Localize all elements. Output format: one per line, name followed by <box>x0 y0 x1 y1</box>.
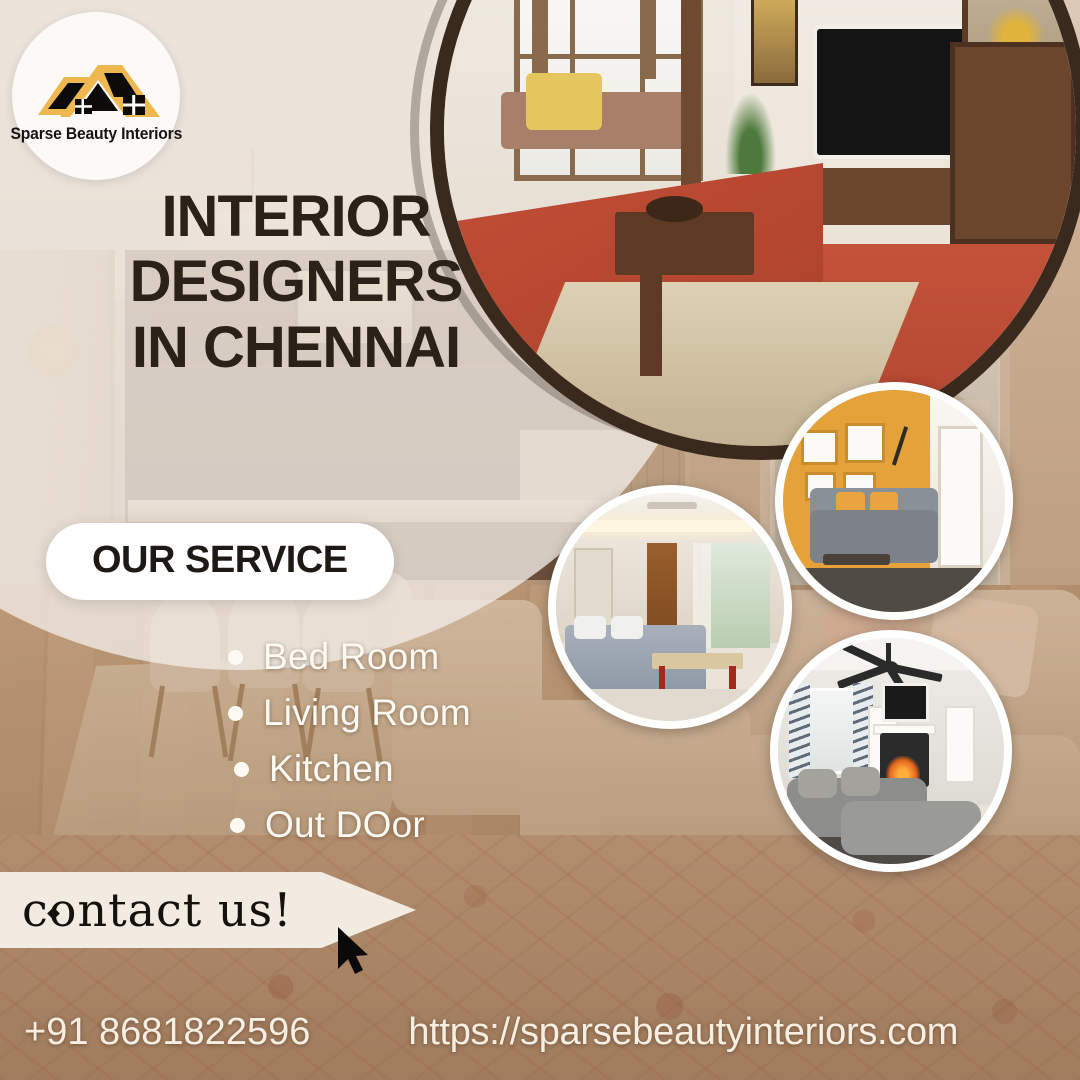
service-label: Bed Room <box>263 636 439 678</box>
headline-line-2: DESIGNERS <box>110 251 482 312</box>
m3-fire-flame <box>886 756 920 781</box>
brand-logo[interactable]: Sparse Beauty Interiors <box>12 12 180 180</box>
mini-image-grey-living-room <box>770 630 1012 872</box>
our-service-badge: OUR SERVICE <box>46 523 394 600</box>
list-item[interactable]: Kitchen <box>234 748 558 790</box>
phone-number[interactable]: +91 8681822596 <box>24 1011 310 1054</box>
m3-fan-rod <box>886 643 891 663</box>
m2-floor <box>556 689 784 721</box>
brand-name: Sparse Beauty Interiors <box>10 125 182 144</box>
website-url[interactable]: https://sparsebeautyinteriors.com <box>408 1011 958 1054</box>
list-item[interactable]: Bed Room <box>228 636 558 678</box>
mouse-pointer-icon <box>336 926 370 976</box>
list-item[interactable]: Out DOor <box>230 804 558 846</box>
contact-us-label: contact us! <box>22 883 293 937</box>
poster-canvas: Sparse Beauty Interiors INTERIOR DESIGNE… <box>0 0 1080 1080</box>
service-label: Kitchen <box>269 748 394 790</box>
list-item[interactable]: Living Room <box>228 692 558 734</box>
m3-cushion <box>798 769 836 798</box>
hero-yellow-pillow <box>526 73 602 130</box>
mini-image-orange-living-room <box>775 382 1013 620</box>
hero-wall-art <box>751 0 798 86</box>
hero-swing-rope <box>532 0 548 79</box>
m1-picture-frame <box>801 430 839 466</box>
m3-fan-hub <box>880 661 898 672</box>
service-label: Out DOor <box>265 804 425 846</box>
m3-curtain <box>789 683 809 778</box>
hero-plant <box>725 92 776 174</box>
hero-swing-rope <box>640 0 656 79</box>
contact-us-text: contact us! <box>22 883 293 937</box>
headline-line-3: IN CHENNAI <box>110 317 482 378</box>
m2-pillow <box>611 616 643 639</box>
hero-table-bowl <box>646 196 703 221</box>
m2-ceiling-fan <box>647 502 697 509</box>
bullet-icon <box>228 650 243 665</box>
mini-image-bedroom <box>548 485 792 729</box>
page-title: INTERIOR DESIGNERS IN CHENNAI <box>110 186 482 378</box>
m3-cushion <box>841 767 879 796</box>
m1-picture-frame <box>845 423 885 463</box>
services-list: Bed Room Living Room Kitchen Out DOor <box>228 636 558 860</box>
m1-door <box>938 426 982 568</box>
m2-cove-light <box>574 520 752 531</box>
bullet-icon <box>230 818 245 833</box>
footer-contact-bar: +91 8681822596 https://sparsebeautyinter… <box>0 1011 1080 1054</box>
house-roof-icon <box>26 53 166 123</box>
m3-sofa-front <box>841 801 981 855</box>
service-label: Living Room <box>263 692 471 734</box>
bullet-icon <box>234 762 249 777</box>
m1-floor <box>783 568 1005 612</box>
hero-coffee-table <box>615 212 754 275</box>
hero-table-leg <box>640 269 662 376</box>
hero-wood-cabinet <box>950 42 1076 244</box>
m3-television <box>882 683 929 721</box>
m1-coffee-table <box>823 554 890 565</box>
hero-television <box>817 29 969 155</box>
bullet-icon <box>228 706 243 721</box>
m3-built-in-shelf <box>945 706 974 783</box>
headline-line-1: INTERIOR <box>110 186 482 247</box>
m2-pillow <box>574 616 606 639</box>
